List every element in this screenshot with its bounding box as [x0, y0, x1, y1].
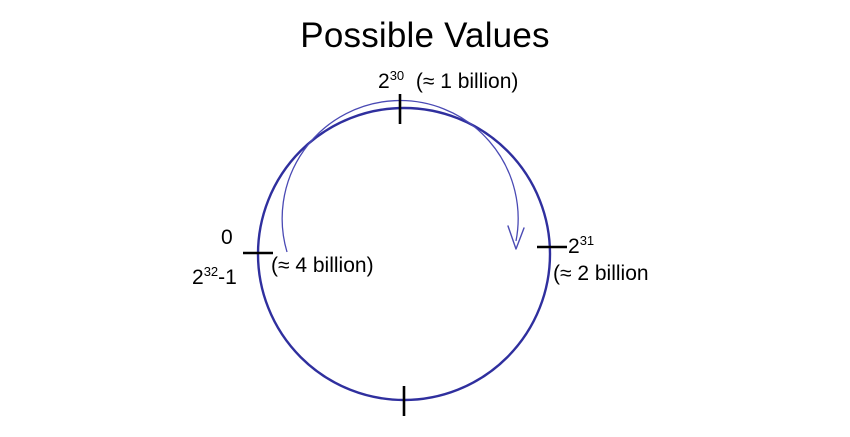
- label-max-exponent: 32: [204, 264, 218, 279]
- label-top-base: 2: [378, 70, 390, 93]
- label-two-pow-32-minus-1: 232-1: [192, 266, 237, 291]
- label-four-billion-approx: (≈ 4 billion): [271, 254, 374, 279]
- label-right-exponent: 31: [580, 233, 594, 248]
- label-max-base: 2: [192, 266, 204, 289]
- label-top-exponent: 30: [390, 68, 404, 83]
- label-max-suffix: -1: [218, 266, 237, 289]
- label-two-pow-31: 231: [568, 235, 594, 260]
- label-zero: 0: [221, 226, 233, 251]
- label-two-pow-30: 230 (≈ 1 billion): [378, 70, 518, 95]
- label-right-base: 2: [568, 235, 580, 258]
- wraparound-circle-diagram: [0, 0, 850, 437]
- slide-canvas: Possible Values 230 (≈ 1 billion) 231 (≈…: [0, 0, 850, 437]
- label-two-billion-approx: (≈ 2 billion: [553, 262, 649, 287]
- label-top-approx: (≈ 1 billion): [416, 70, 519, 93]
